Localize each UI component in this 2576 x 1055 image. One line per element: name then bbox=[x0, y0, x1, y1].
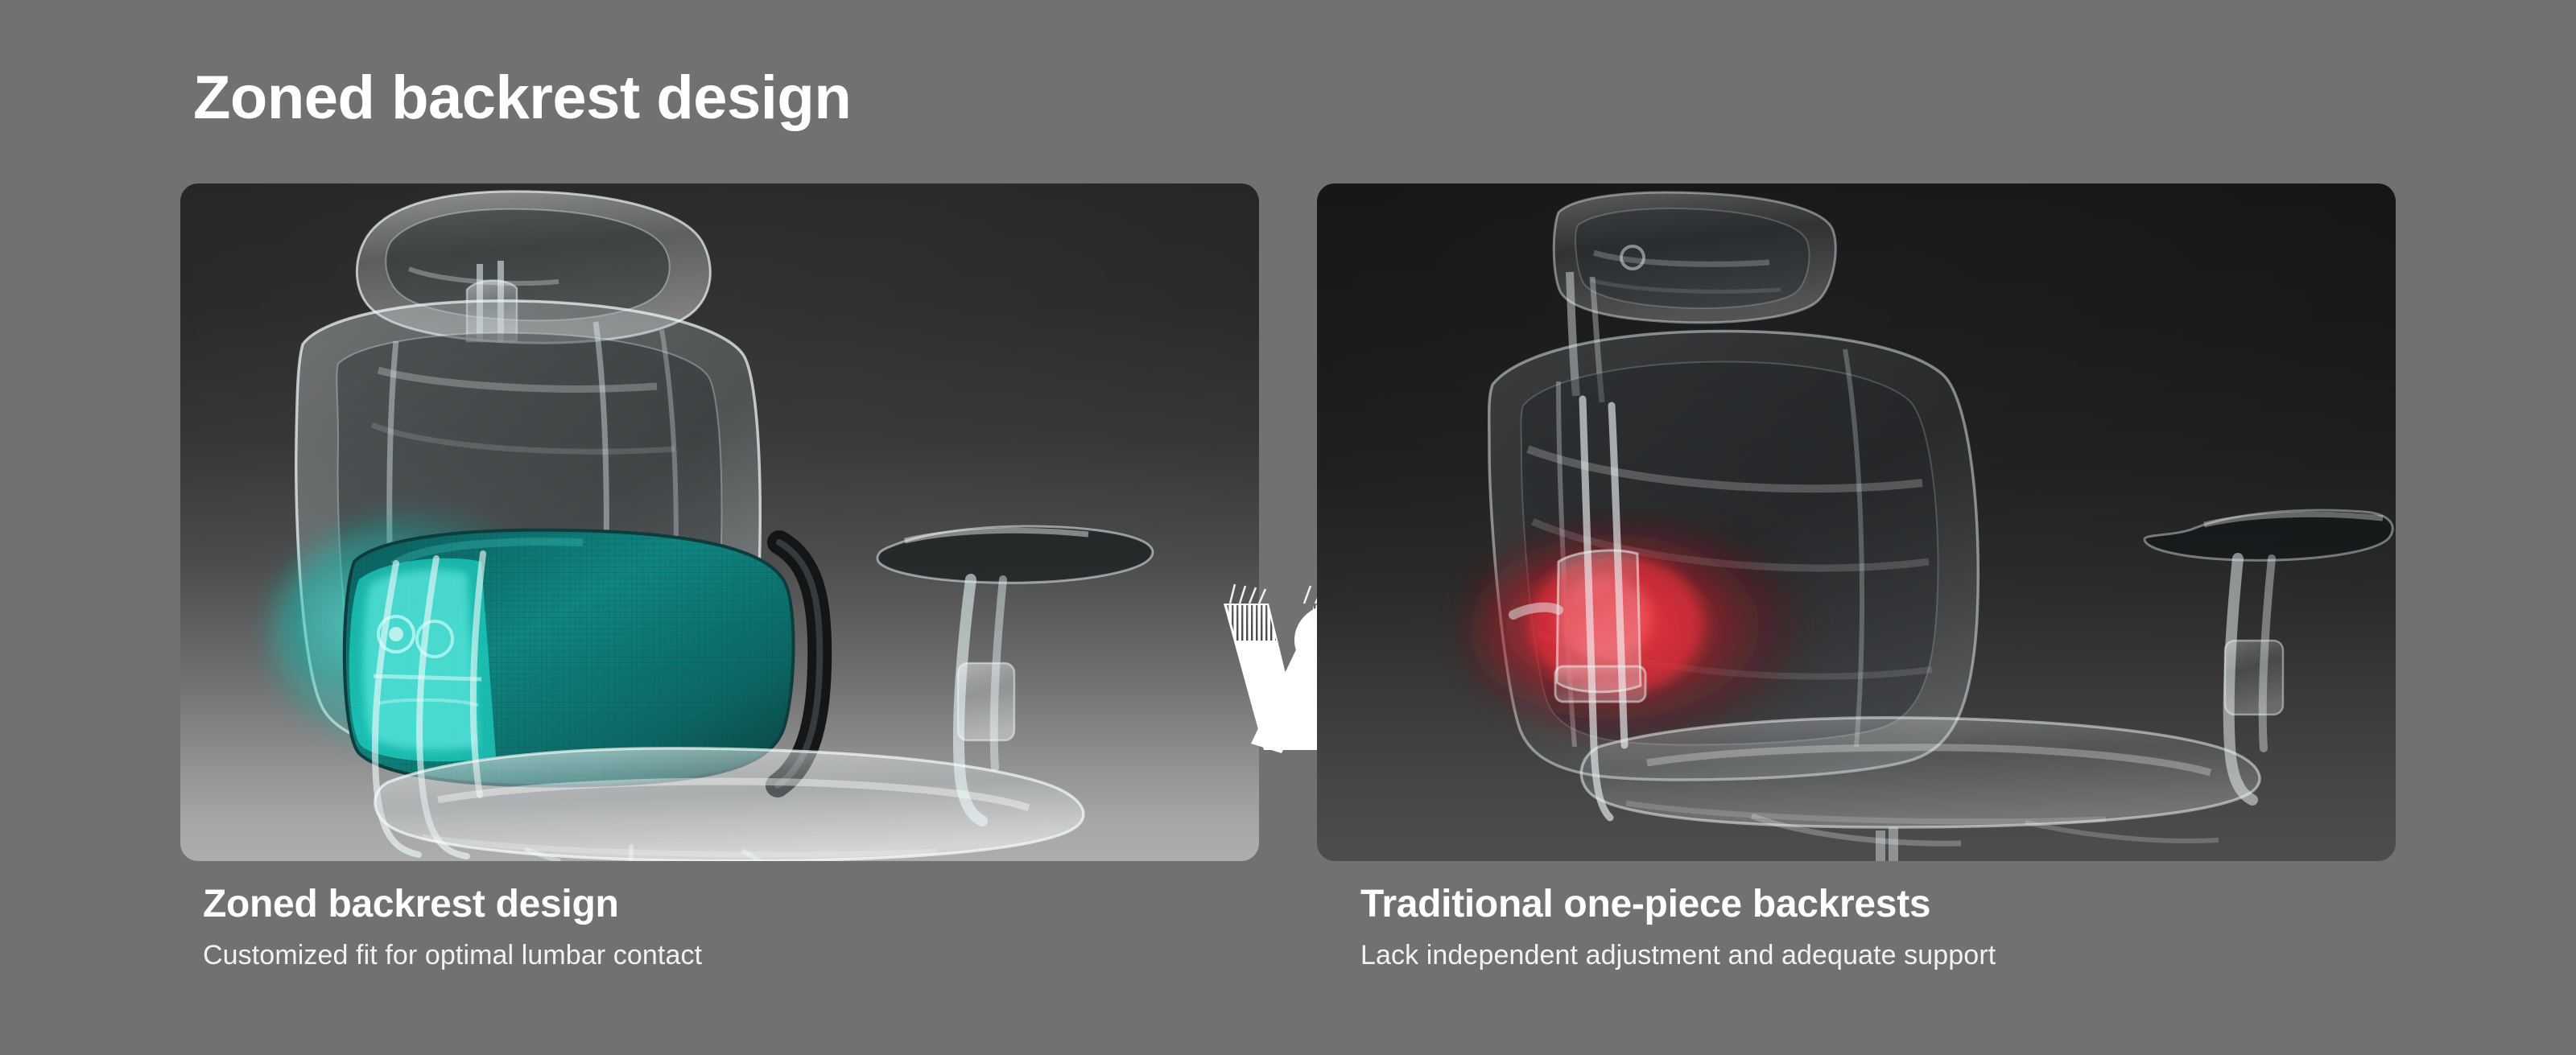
chair-xray-red-illustration bbox=[1317, 183, 2396, 861]
chair-xray-teal-illustration bbox=[180, 183, 1259, 861]
comparison-page: Zoned backrest design bbox=[0, 0, 2576, 1055]
caption-traditional: Traditional one-piece backrests Lack ind… bbox=[1360, 882, 1996, 971]
comparison-panel-traditional[interactable] bbox=[1317, 183, 2396, 861]
caption-title-zoned: Zoned backrest design bbox=[203, 882, 702, 928]
caption-zoned: Zoned backrest design Customized fit for… bbox=[203, 882, 702, 971]
caption-subtitle-zoned: Customized fit for optimal lumbar contac… bbox=[203, 939, 702, 972]
caption-title-traditional: Traditional one-piece backrests bbox=[1360, 882, 1996, 928]
caption-subtitle-traditional: Lack independent adjustment and adequate… bbox=[1360, 939, 1996, 972]
page-title: Zoned backrest design bbox=[193, 68, 851, 129]
comparison-row bbox=[0, 183, 2576, 861]
comparison-panel-zoned[interactable] bbox=[180, 183, 1259, 861]
